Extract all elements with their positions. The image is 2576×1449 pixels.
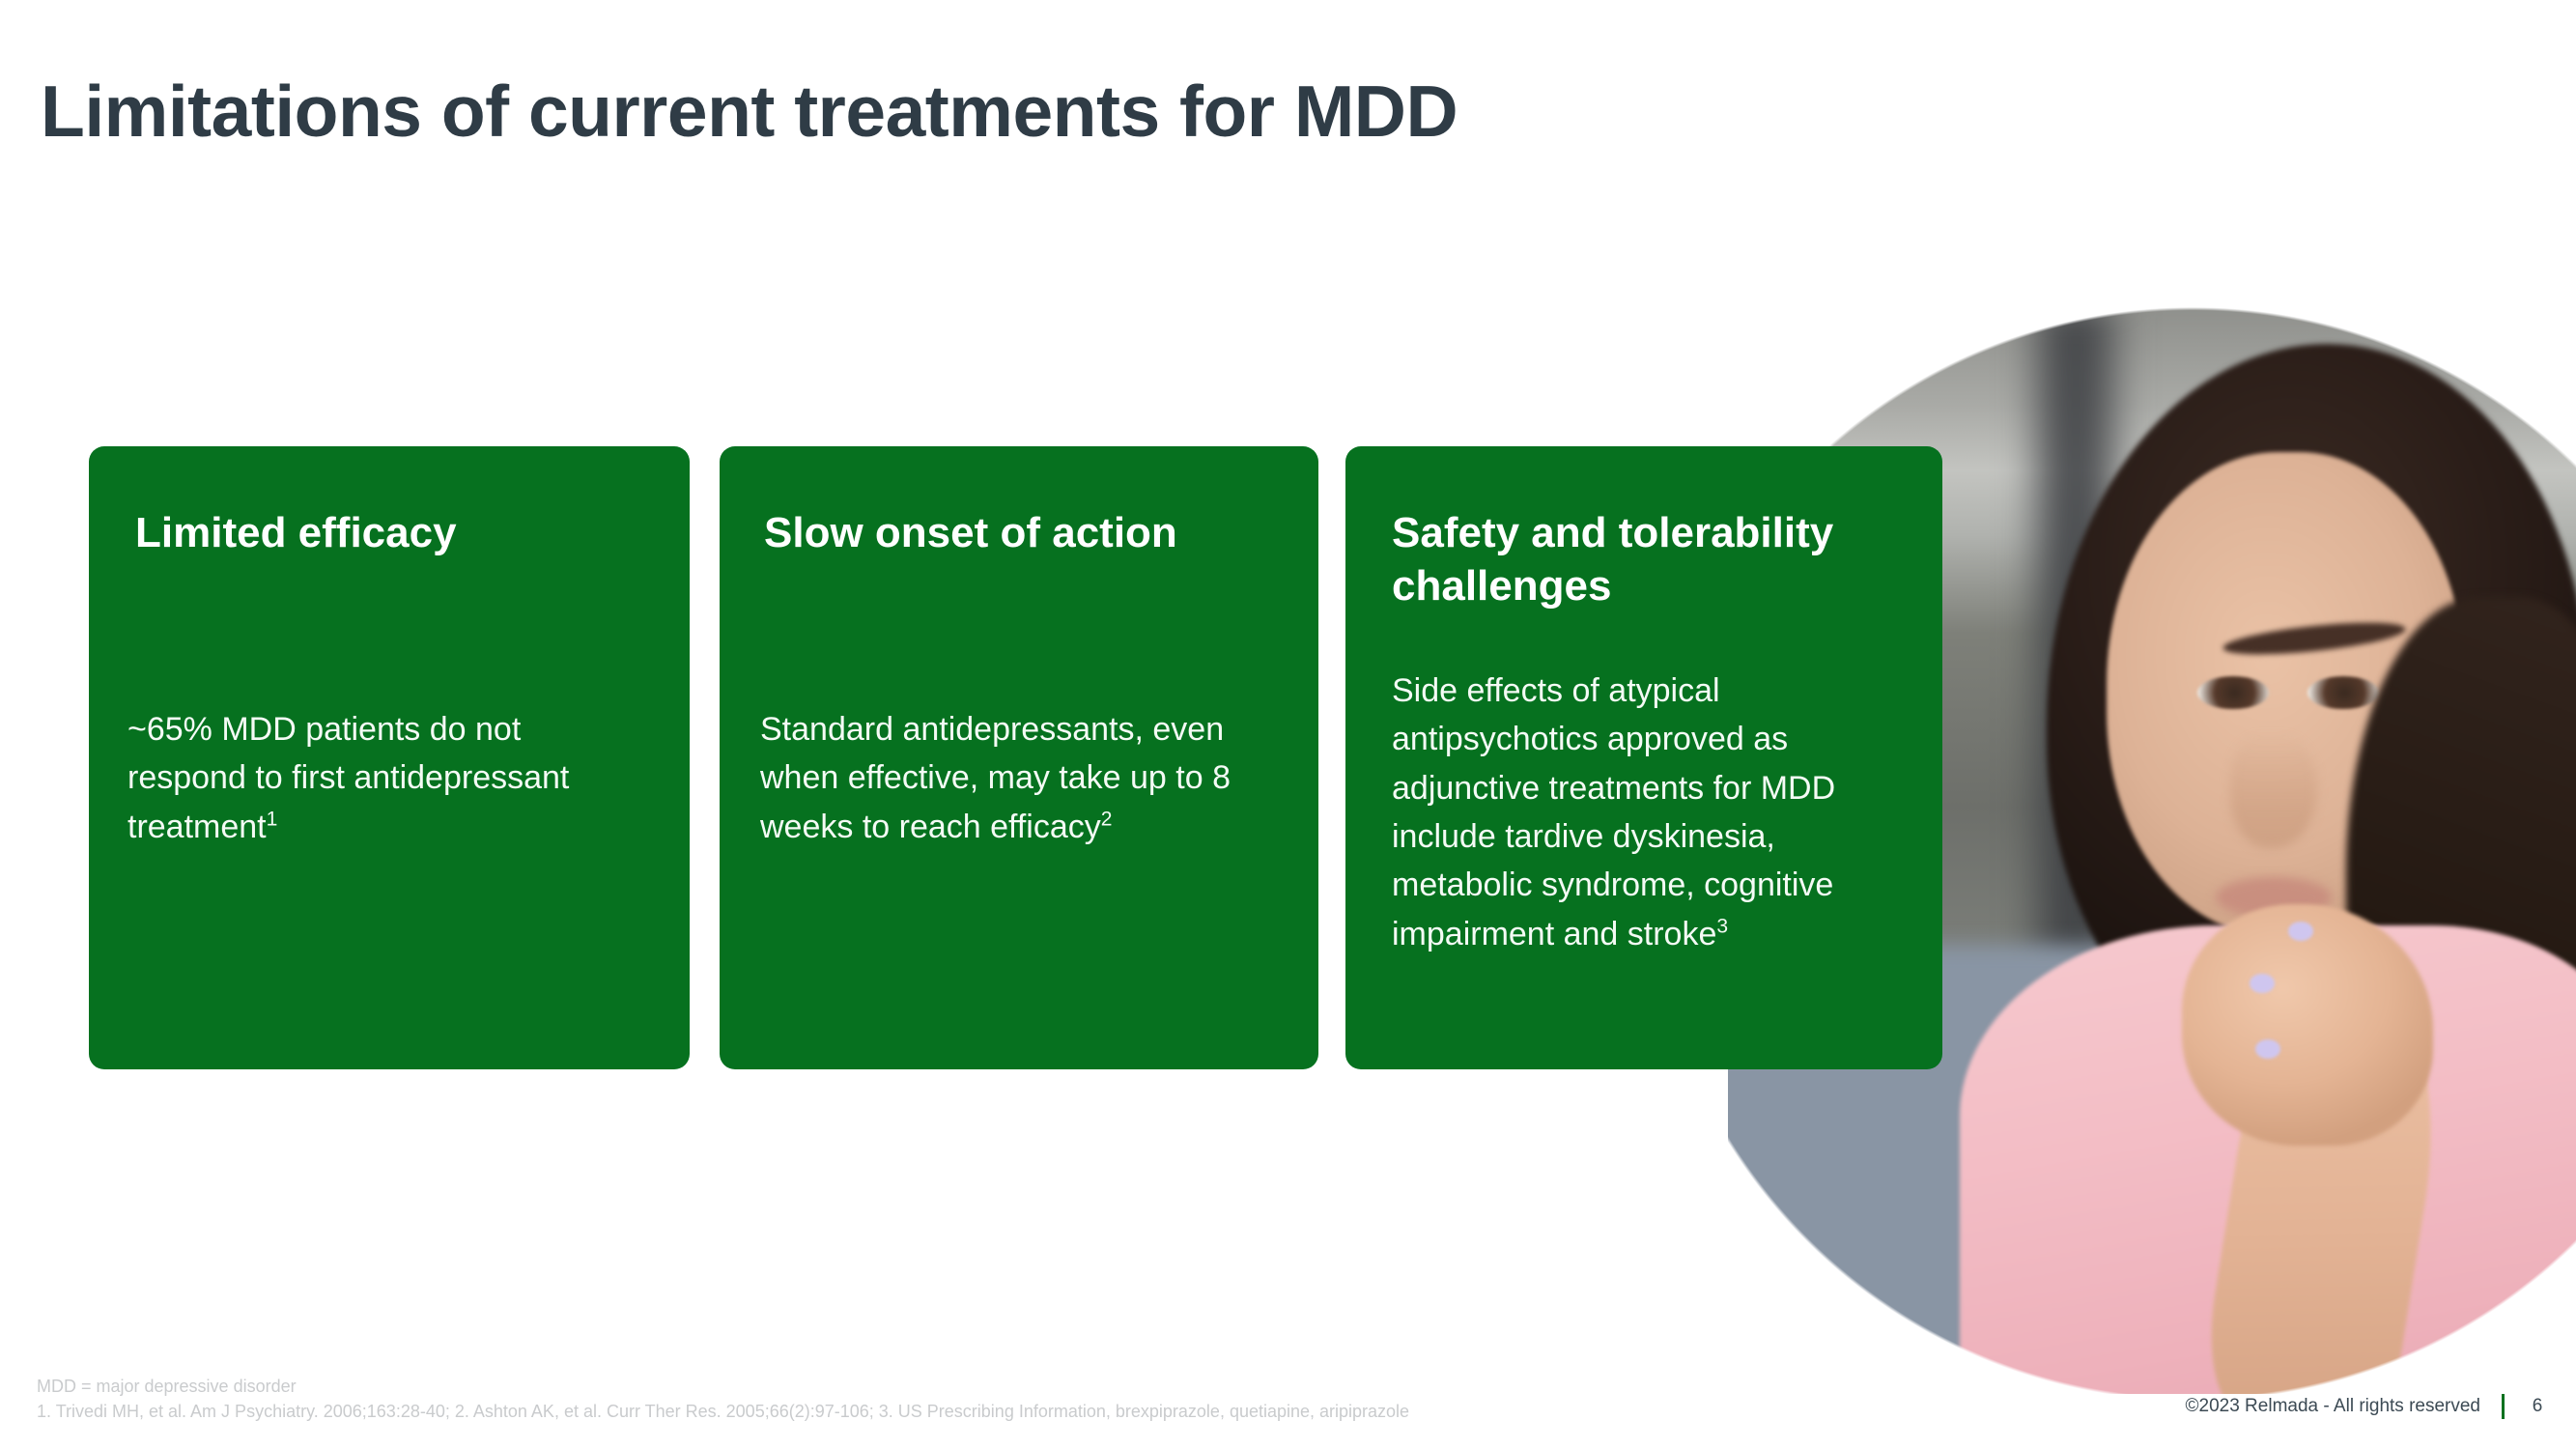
card-reference-marker: 2 [1101,808,1113,830]
abbreviation-note: MDD = major depressive disorder [37,1377,297,1397]
page-title: Limitations of current treatments for MD… [41,70,1458,153]
card-slow-onset-of-action[interactable]: Slow onset of action Standard antidepres… [720,446,1318,1069]
photo-fingernail [2250,974,2275,993]
card-body-text: Side effects of atypical antipsychotics … [1392,672,1835,952]
card-title: Limited efficacy [135,506,457,559]
footer-right: ©2023 Relmada - All rights reserved 6 [2186,1394,2549,1419]
photo-eye-right [2307,676,2379,709]
photo-fingernail [2288,922,2313,941]
card-body-text: Standard antidepressants, even when effe… [760,711,1231,845]
card-body-text: ~65% MDD patients do not respond to firs… [127,711,569,845]
card-reference-marker: 1 [267,808,278,830]
card-body: ~65% MDD patients do not respond to firs… [127,705,630,851]
card-body: Side effects of atypical antipsychotics … [1392,667,1894,958]
photo-fingernail [2255,1039,2280,1059]
card-body: Standard antidepressants, even when effe… [760,705,1272,851]
card-title: Slow onset of action [764,506,1177,559]
card-reference-marker: 3 [1716,915,1728,937]
copyright-text: ©2023 Relmada - All rights reserved [2186,1396,2480,1417]
footer-divider [2502,1394,2505,1419]
reference-list: 1. Trivedi MH, et al. Am J Psychiatry. 2… [37,1402,1409,1422]
card-limited-efficacy[interactable]: Limited efficacy ~65% MDD patients do no… [89,446,690,1069]
card-safety-and-tolerability-challenges[interactable]: Safety and tolerability challenges Side … [1345,446,1942,1069]
photo-eye-left [2197,676,2269,709]
card-title: Safety and tolerability challenges [1392,506,1913,612]
photo-nose [2230,732,2317,848]
page-number: 6 [2526,1396,2549,1417]
slide-canvas: Limitations of current treatments for MD… [0,0,2576,1449]
